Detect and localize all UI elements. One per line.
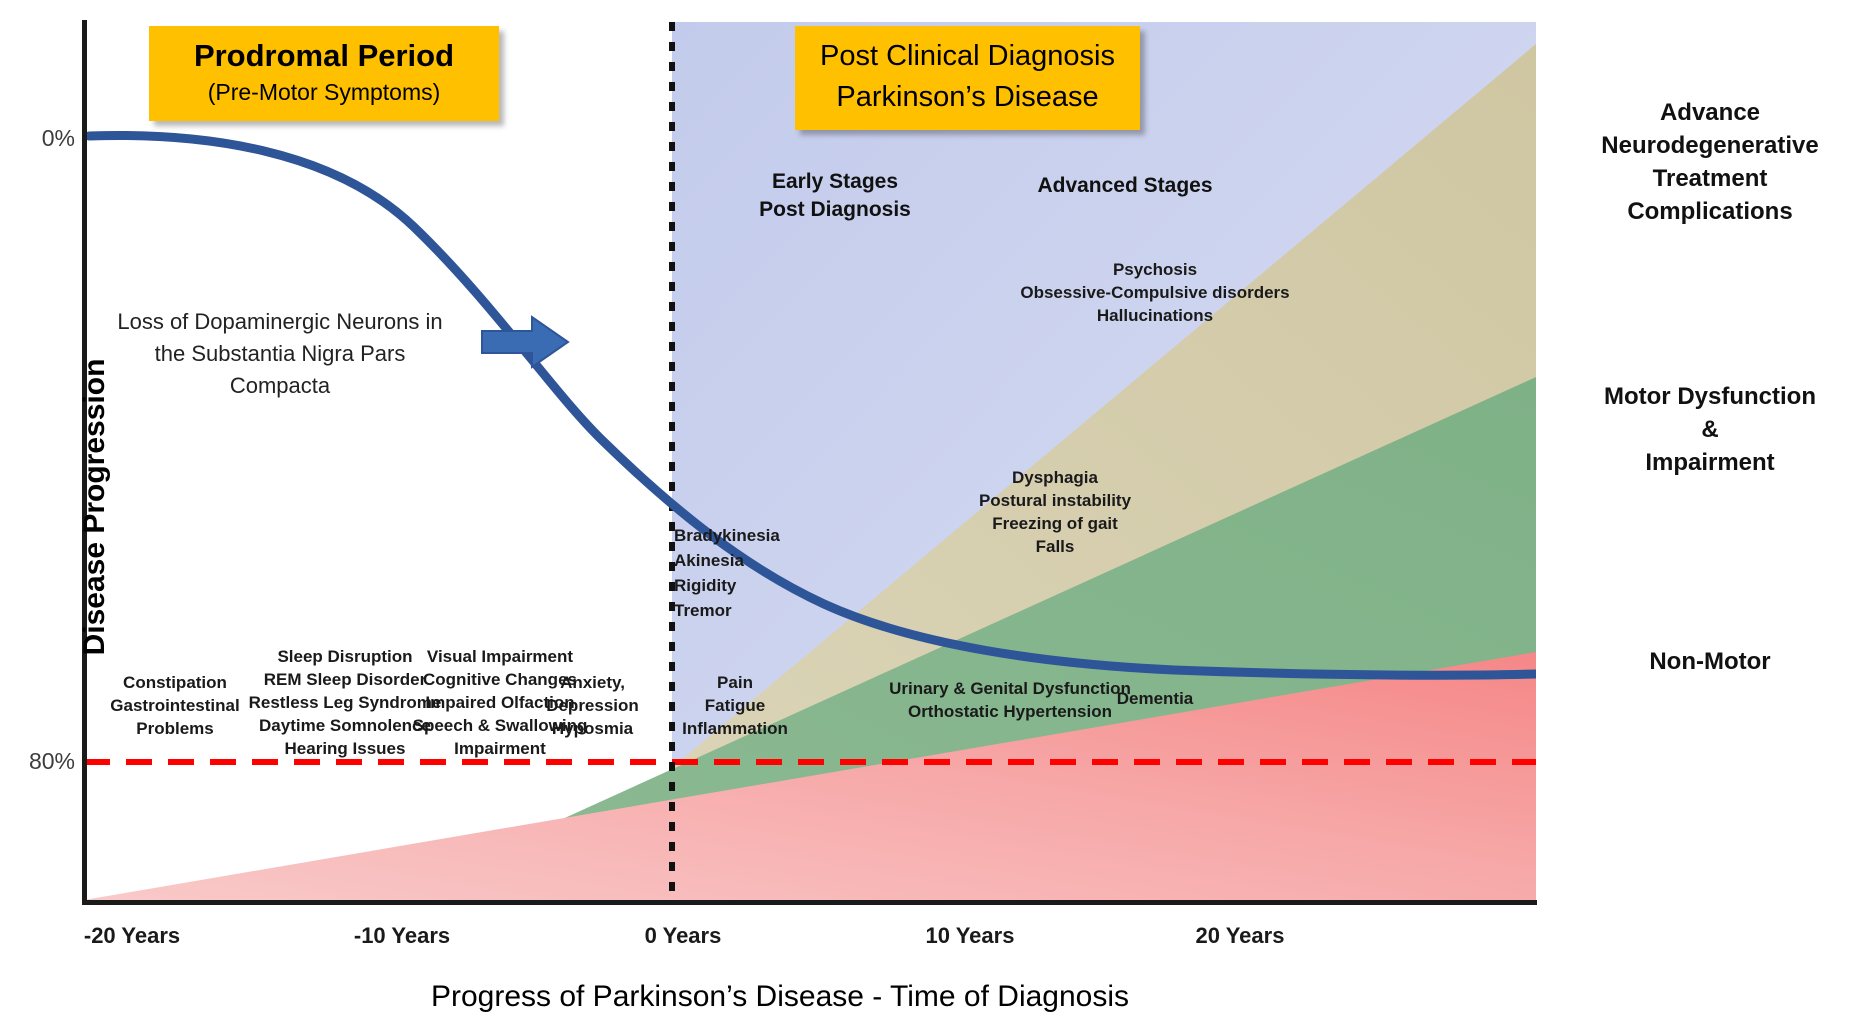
annotation-loss-line2: the Substantia Nigra Pars Compacta (105, 338, 455, 402)
x-tick-minus-10-years: -10 Years (317, 923, 487, 949)
symptom-line: Falls (935, 535, 1175, 558)
label-early-stages-line1: Early Stages (700, 168, 970, 196)
annotation-dopaminergic-loss: Loss of Dopaminergic Neurons in the Subs… (105, 306, 455, 402)
symptom-block-dementia: Dementia (1050, 687, 1260, 710)
symptom-line: Psychosis (1005, 258, 1305, 281)
x-tick-10-years: 10 Years (885, 923, 1055, 949)
callout-prodromal-title: Prodromal Period (149, 36, 499, 76)
chart-plot-area (84, 22, 1536, 902)
symptom-block-psychosis: Psychosis Obsessive-Compulsive disorders… (1005, 258, 1305, 327)
callout-postdx-title: Post Clinical Diagnosis (795, 36, 1140, 77)
right-arrow-icon (480, 313, 570, 371)
y-tick-0-percent: 0% (5, 125, 75, 152)
annotation-loss-line1: Loss of Dopaminergic Neurons in (105, 306, 455, 338)
callout-post-clinical-diagnosis: Post Clinical Diagnosis Parkinson’s Dise… (795, 26, 1140, 130)
right-label-motor-l3: Impairment (1560, 446, 1860, 479)
symptom-line: Postural instability (935, 489, 1175, 512)
y-tick-80-percent: 80% (5, 748, 75, 775)
callout-prodromal-subtitle: (Pre-Motor Symptoms) (149, 76, 499, 109)
right-label-motor-l2: & (1560, 413, 1860, 446)
symptom-line: Dementia (1050, 687, 1260, 710)
symptom-line: Hallucinations (1005, 304, 1305, 327)
symptom-block-dysphagia: Dysphagia Postural instability Freezing … (935, 466, 1175, 558)
symptom-line: Hyposmia (505, 717, 680, 740)
right-label-motor-dysfunction: Motor Dysfunction & Impairment (1560, 380, 1860, 479)
symptom-line: Inflammation (655, 717, 815, 740)
right-label-motor-l1: Motor Dysfunction (1560, 380, 1860, 413)
right-label-advance-complications: Advance Neurodegenerative Treatment Comp… (1560, 96, 1860, 228)
label-early-stages: Early Stages Post Diagnosis (700, 168, 970, 224)
symptom-line: Akinesia (674, 548, 804, 573)
symptom-line: Pain (655, 671, 815, 694)
symptom-line: Fatigue (655, 694, 815, 717)
x-tick-minus-20-years: -20 Years (47, 923, 217, 949)
symptom-line: Impairment (375, 737, 625, 760)
right-label-advance-l4: Complications (1560, 195, 1860, 228)
x-axis-title: Progress of Parkinson’s Disease - Time o… (330, 980, 1230, 1014)
symptom-block-pain: Pain Fatigue Inflammation (655, 671, 815, 740)
right-label-advance-l1: Advance (1560, 96, 1860, 129)
x-tick-0-years: 0 Years (598, 923, 768, 949)
symptom-line: Depression (505, 694, 680, 717)
callout-postdx-subtitle: Parkinson’s Disease (795, 77, 1140, 118)
symptom-block-anxiety: Anxiety, Depression Hyposmia (505, 671, 680, 740)
symptom-line: Dysphagia (935, 466, 1175, 489)
label-early-stages-line2: Post Diagnosis (700, 196, 970, 224)
callout-prodromal-period: Prodromal Period (Pre-Motor Symptoms) (149, 26, 499, 121)
symptom-line: Bradykinesia (674, 523, 804, 548)
right-label-advance-l2: Neurodegenerative (1560, 129, 1860, 162)
symptom-line: Obsessive-Compulsive disorders (1005, 281, 1305, 304)
parkinsons-progression-diagram: Disease Progression Progress of Parkinso… (0, 0, 1870, 1030)
x-axis-line (82, 900, 1537, 905)
right-label-advance-l3: Treatment (1560, 162, 1860, 195)
symptom-line: Tremor (674, 598, 804, 623)
symptom-line: Anxiety, (505, 671, 680, 694)
symptom-line: Freezing of gait (935, 512, 1175, 535)
symptom-line: Rigidity (674, 573, 804, 598)
x-tick-20-years: 20 Years (1155, 923, 1325, 949)
symptom-block-bradykinesia: Bradykinesia Akinesia Rigidity Tremor (674, 523, 804, 623)
label-advanced-stages: Advanced Stages (1000, 172, 1250, 200)
symptom-line: Visual Impairment (375, 645, 625, 668)
right-label-non-motor: Non-Motor (1560, 645, 1860, 678)
